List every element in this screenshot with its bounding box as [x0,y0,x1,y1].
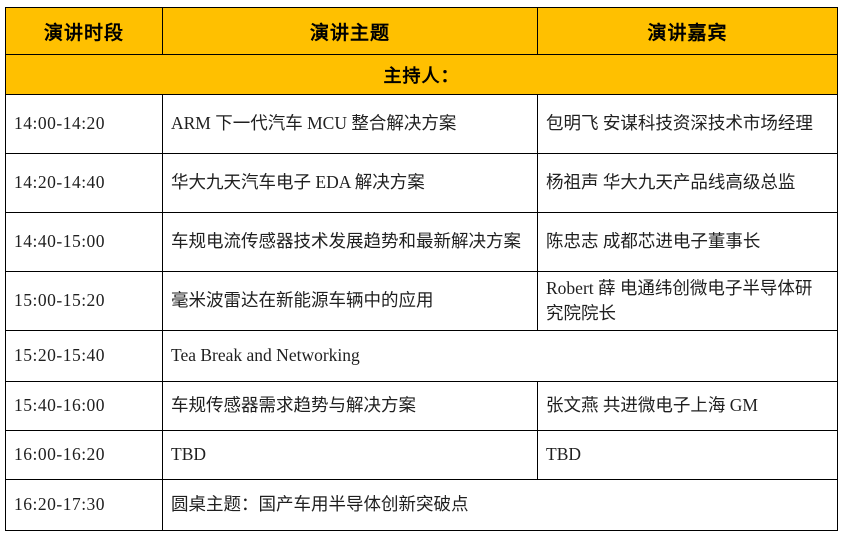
session-topic-cell: TBD [163,431,538,480]
session-time-cell: 16:00-16:20 [6,431,163,480]
table-row: 14:00-14:20ARM 下一代汽车 MCU 整合解决方案包明飞 安谋科技资… [6,95,838,154]
session-time-cell: 16:20-17:30 [6,480,163,531]
session-time-cell: 14:20-14:40 [6,154,163,213]
table-row: 15:40-16:00车规传感器需求趋势与解决方案张文燕 共进微电子上海 GM [6,382,838,431]
session-time-cell: 15:20-15:40 [6,331,163,382]
column-header-topic: 演讲主题 [163,8,538,55]
agenda-table-container: 演讲时段 演讲主题 演讲嘉宾 主持人： 14:00-14:20ARM 下一代汽车… [5,7,837,531]
session-topic-cell: Tea Break and Networking [163,331,838,382]
session-topic-cell: 华大九天汽车电子 EDA 解决方案 [163,154,538,213]
session-time-cell: 14:00-14:20 [6,95,163,154]
session-topic-cell: 圆桌主题：国产车用半导体创新突破点 [163,480,838,531]
session-guest-cell: 陈忠志 成都芯进电子董事长 [538,213,838,272]
session-time-cell: 15:40-16:00 [6,382,163,431]
table-row: 16:20-17:30圆桌主题：国产车用半导体创新突破点 [6,480,838,531]
table-header-row: 演讲时段 演讲主题 演讲嘉宾 [6,8,838,55]
session-topic-cell: 车规传感器需求趋势与解决方案 [163,382,538,431]
host-band-row: 主持人： [6,55,838,95]
session-time-cell: 14:40-15:00 [6,213,163,272]
session-guest-cell: 张文燕 共进微电子上海 GM [538,382,838,431]
table-row: 15:00-15:20毫米波雷达在新能源车辆中的应用Robert 薛 电通纬创微… [6,272,838,331]
session-guest-cell: 杨祖声 华大九天产品线高级总监 [538,154,838,213]
session-time-cell: 15:00-15:20 [6,272,163,331]
column-header-guest: 演讲嘉宾 [538,8,838,55]
session-topic-cell: ARM 下一代汽车 MCU 整合解决方案 [163,95,538,154]
table-row: 14:20-14:40华大九天汽车电子 EDA 解决方案杨祖声 华大九天产品线高… [6,154,838,213]
agenda-table-body: 演讲时段 演讲主题 演讲嘉宾 主持人： 14:00-14:20ARM 下一代汽车… [6,8,838,531]
session-guest-cell: TBD [538,431,838,480]
table-row: 16:00-16:20TBDTBD [6,431,838,480]
session-guest-cell: 包明飞 安谋科技资深技术市场经理 [538,95,838,154]
host-band-label: 主持人： [6,55,838,95]
conference-agenda-table: 演讲时段 演讲主题 演讲嘉宾 主持人： 14:00-14:20ARM 下一代汽车… [5,7,838,531]
session-guest-cell: Robert 薛 电通纬创微电子半导体研究院院长 [538,272,838,331]
session-topic-cell: 车规电流传感器技术发展趋势和最新解决方案 [163,213,538,272]
table-row: 14:40-15:00车规电流传感器技术发展趋势和最新解决方案陈忠志 成都芯进电… [6,213,838,272]
column-header-time: 演讲时段 [6,8,163,55]
table-row: 15:20-15:40Tea Break and Networking [6,331,838,382]
session-topic-cell: 毫米波雷达在新能源车辆中的应用 [163,272,538,331]
